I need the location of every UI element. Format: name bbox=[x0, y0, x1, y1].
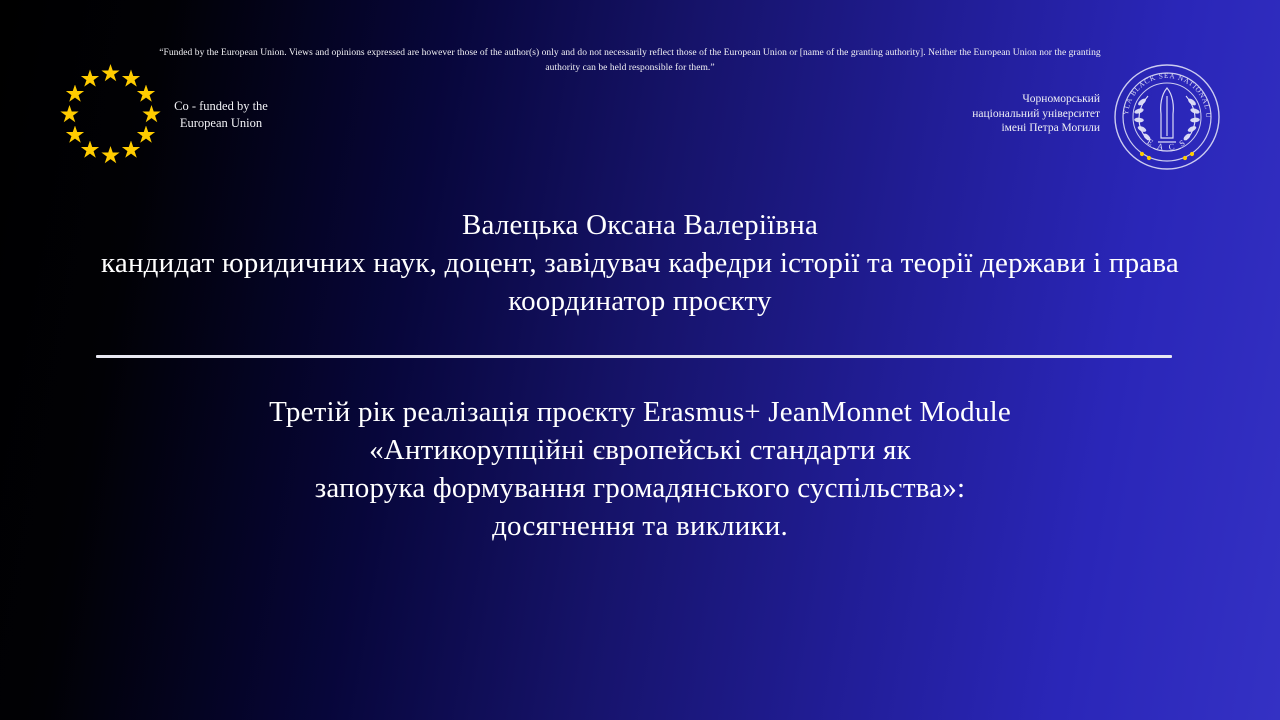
eu-star-icon bbox=[65, 126, 84, 145]
speaker-role: координатор проєкту bbox=[0, 282, 1280, 320]
university-name-line3: імені Петра Могили bbox=[940, 121, 1100, 136]
eu-star-icon bbox=[81, 141, 100, 160]
eu-star-icon bbox=[142, 105, 161, 124]
project-title-line1: Третій рік реалізація проєкту Erasmus+ J… bbox=[0, 393, 1280, 431]
university-seal-logo: PETRO MOHYLA BLACK SEA NATIONAL UNIVERSI… bbox=[1112, 62, 1222, 172]
project-title-line2: «Антикорупційні європейські стандарти як bbox=[0, 431, 1280, 469]
eu-logo-label-line1: Co - funded by the bbox=[166, 98, 276, 115]
eu-star-icon bbox=[81, 69, 100, 88]
project-title-line3: запорука формування громадянського суспі… bbox=[0, 469, 1280, 507]
eu-star-icon bbox=[137, 126, 156, 145]
project-title-line4: досягнення та виклики. bbox=[0, 507, 1280, 545]
eu-logo-label: Co - funded by the European Union bbox=[166, 98, 276, 132]
project-title-block: Третій рік реалізація проєкту Erasmus+ J… bbox=[0, 393, 1280, 545]
eu-star-icon bbox=[122, 69, 141, 88]
speaker-name: Валецька Оксана Валеріївна bbox=[0, 206, 1280, 244]
university-name-line2: національний університет bbox=[940, 107, 1100, 122]
eu-cofunded-logo: Co - funded by the European Union bbox=[58, 62, 273, 167]
eu-funding-disclaimer: “Funded by the European Union. Views and… bbox=[145, 46, 1115, 75]
eu-star-icon bbox=[65, 85, 84, 104]
eu-star-icon bbox=[137, 85, 156, 104]
eu-star-icon bbox=[122, 141, 141, 160]
svg-text:E A C S: E A C S bbox=[1145, 136, 1188, 152]
eu-star-icon bbox=[101, 146, 120, 165]
horizontal-divider bbox=[96, 355, 1172, 358]
university-name: Чорноморський національний університет і… bbox=[940, 92, 1100, 136]
speaker-title: кандидат юридичних наук, доцент, завідув… bbox=[0, 244, 1280, 282]
eu-logo-label-line2: European Union bbox=[166, 115, 276, 132]
eu-star-icon bbox=[101, 64, 120, 83]
eu-star-icon bbox=[60, 105, 79, 124]
university-name-line1: Чорноморський bbox=[940, 92, 1100, 107]
speaker-block: Валецька Оксана Валеріївна кандидат юрид… bbox=[0, 206, 1280, 320]
eu-star-circle-icon bbox=[58, 62, 163, 167]
slide-root: { "disclaimer": { "text": "\u201cFunded … bbox=[0, 0, 1280, 720]
